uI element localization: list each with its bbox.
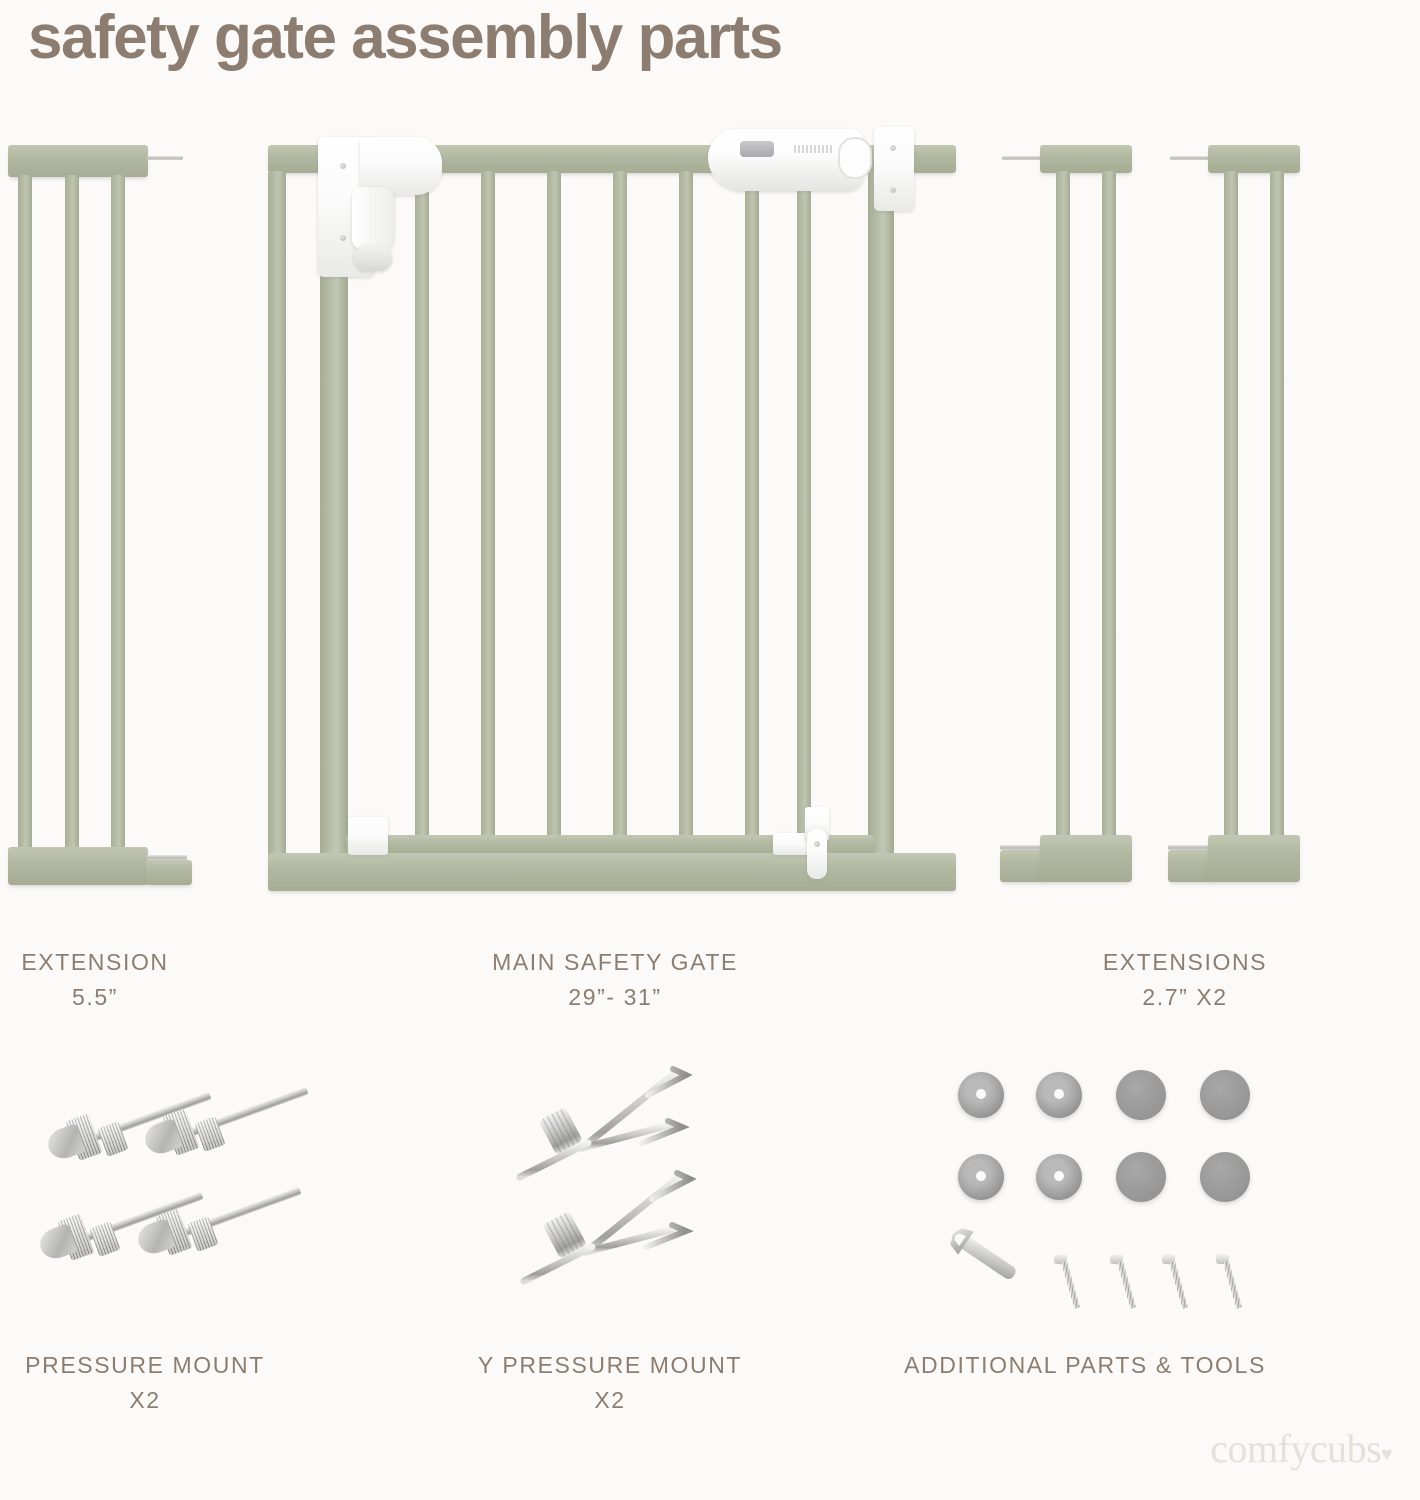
- latch-screw-icon: [890, 145, 896, 151]
- extension-top-pin: [147, 156, 183, 160]
- caption-line-2: 5.5”: [0, 980, 190, 1015]
- caption-line-2: 29”- 31”: [420, 980, 810, 1015]
- part-extension-2-7-b: [1180, 145, 1310, 890]
- extension-top-pin: [1002, 156, 1044, 160]
- extension-bottom-pin: [147, 855, 187, 860]
- pressure-mount-bolt: [147, 1085, 347, 1165]
- wall-pad: [1116, 1152, 1166, 1202]
- y-pressure-mount-icon: [490, 1055, 730, 1285]
- part-extension-5-5: [8, 145, 198, 890]
- gate-latch-assembly[interactable]: [708, 125, 908, 201]
- bottom-latch-screw-icon: [814, 841, 820, 847]
- latch-press-button[interactable]: [838, 137, 872, 179]
- part-additional-parts-tools: [950, 1068, 1270, 1298]
- wall-pad: [1116, 1070, 1166, 1120]
- bottom-latch-pin: [807, 829, 827, 879]
- caption-line-1: PRESSURE MOUNT: [25, 1352, 265, 1378]
- gate-bar: [415, 171, 429, 861]
- screw: [1110, 1254, 1158, 1312]
- gate-bottom-latch[interactable]: [773, 805, 853, 885]
- screw-shaft: [1117, 1261, 1136, 1309]
- screw-shaft: [1169, 1261, 1188, 1309]
- caption-line-2: 2.7” X2: [1020, 980, 1350, 1015]
- wrench-icon: [940, 1216, 1030, 1296]
- wall-cup: [1036, 1072, 1082, 1118]
- caption-pressure-mount: PRESSURE MOUNT X2: [0, 1348, 290, 1417]
- extension-bar: [111, 175, 125, 865]
- gate-bar: [745, 171, 759, 861]
- extension-top-rail: [1208, 145, 1300, 173]
- wall-cup: [958, 1072, 1004, 1118]
- latch-hinge-plate: [874, 127, 914, 211]
- gate-bottom-hinge-block: [348, 817, 388, 855]
- brand-logo: comfycubs♥: [1210, 1425, 1392, 1472]
- gate-bar: [481, 171, 495, 861]
- gate-bar: [613, 171, 627, 861]
- extension-top-rail: [1040, 145, 1132, 173]
- extension-bar: [1102, 171, 1116, 863]
- part-pressure-mount: [40, 1080, 320, 1280]
- latch-screw-icon: [890, 187, 896, 193]
- y-mount-unit: [524, 1173, 690, 1281]
- caption-line-2: X2: [0, 1383, 290, 1418]
- extension-bottom-foot: [146, 860, 192, 885]
- extension-bar: [1270, 171, 1284, 863]
- gate-bar: [797, 171, 811, 861]
- caption-main-safety-gate: MAIN SAFETY GATE 29”- 31”: [420, 945, 810, 1014]
- caption-line-1: ADDITIONAL PARTS & TOOLS: [904, 1352, 1266, 1378]
- hinge-screw-icon: [340, 235, 346, 241]
- caption-extensions-2-7: EXTENSIONS 2.7” X2: [1020, 945, 1350, 1014]
- extension-bar: [18, 175, 32, 865]
- part-extension-2-7-a: [1012, 145, 1142, 890]
- screw: [1162, 1254, 1210, 1312]
- caption-additional-parts-tools: ADDITIONAL PARTS & TOOLS: [850, 1348, 1320, 1383]
- extension-bottom-rail: [1208, 835, 1300, 882]
- latch-indicator-window: [740, 141, 774, 157]
- part-main-safety-gate: [268, 145, 958, 900]
- wall-cup: [958, 1154, 1004, 1200]
- latch-brand-text: [794, 145, 834, 153]
- screw: [1216, 1254, 1264, 1312]
- caption-line-1: Y PRESSURE MOUNT: [478, 1352, 742, 1378]
- pressure-mount-bolt: [140, 1185, 340, 1265]
- extension-bar: [1224, 171, 1238, 863]
- caption-extension-5-5: EXTENSION 5.5”: [0, 945, 190, 1014]
- extension-bottom-rail: [1040, 835, 1132, 882]
- hinge-screw-icon: [340, 163, 346, 169]
- part-y-pressure-mount: [490, 1055, 730, 1285]
- caption-line-2: X2: [430, 1383, 790, 1418]
- extension-top-rail: [8, 145, 148, 177]
- page-title: safety gate assembly parts: [28, 2, 782, 73]
- caption-y-pressure-mount: Y PRESSURE MOUNT X2: [430, 1348, 790, 1417]
- screw-shaft: [1061, 1261, 1080, 1309]
- screw-shaft: [1223, 1261, 1242, 1309]
- gate-top-hinge-pivot: [354, 245, 392, 271]
- extension-bar: [65, 175, 79, 865]
- gate-bar: [547, 171, 561, 861]
- extension-bottom-rail: [8, 847, 148, 885]
- gate-bar: [679, 171, 693, 861]
- caption-line-1: MAIN SAFETY GATE: [492, 949, 738, 975]
- brand-name: comfycubs: [1210, 1426, 1381, 1471]
- caption-line-1: EXTENSIONS: [1103, 949, 1267, 975]
- screw: [1054, 1254, 1102, 1312]
- heart-icon: ♥: [1381, 1444, 1392, 1465]
- caption-line-1: EXTENSION: [21, 949, 168, 975]
- gate-top-hinge-barrel: [352, 187, 394, 249]
- gate-left-post: [268, 171, 286, 871]
- wall-cup: [1036, 1154, 1082, 1200]
- gate-right-post: [868, 171, 894, 871]
- y-mount-unit: [520, 1069, 686, 1177]
- extension-bar: [1056, 171, 1070, 863]
- extension-top-pin: [1170, 156, 1212, 160]
- wall-pad: [1200, 1070, 1250, 1120]
- wall-pad: [1200, 1152, 1250, 1202]
